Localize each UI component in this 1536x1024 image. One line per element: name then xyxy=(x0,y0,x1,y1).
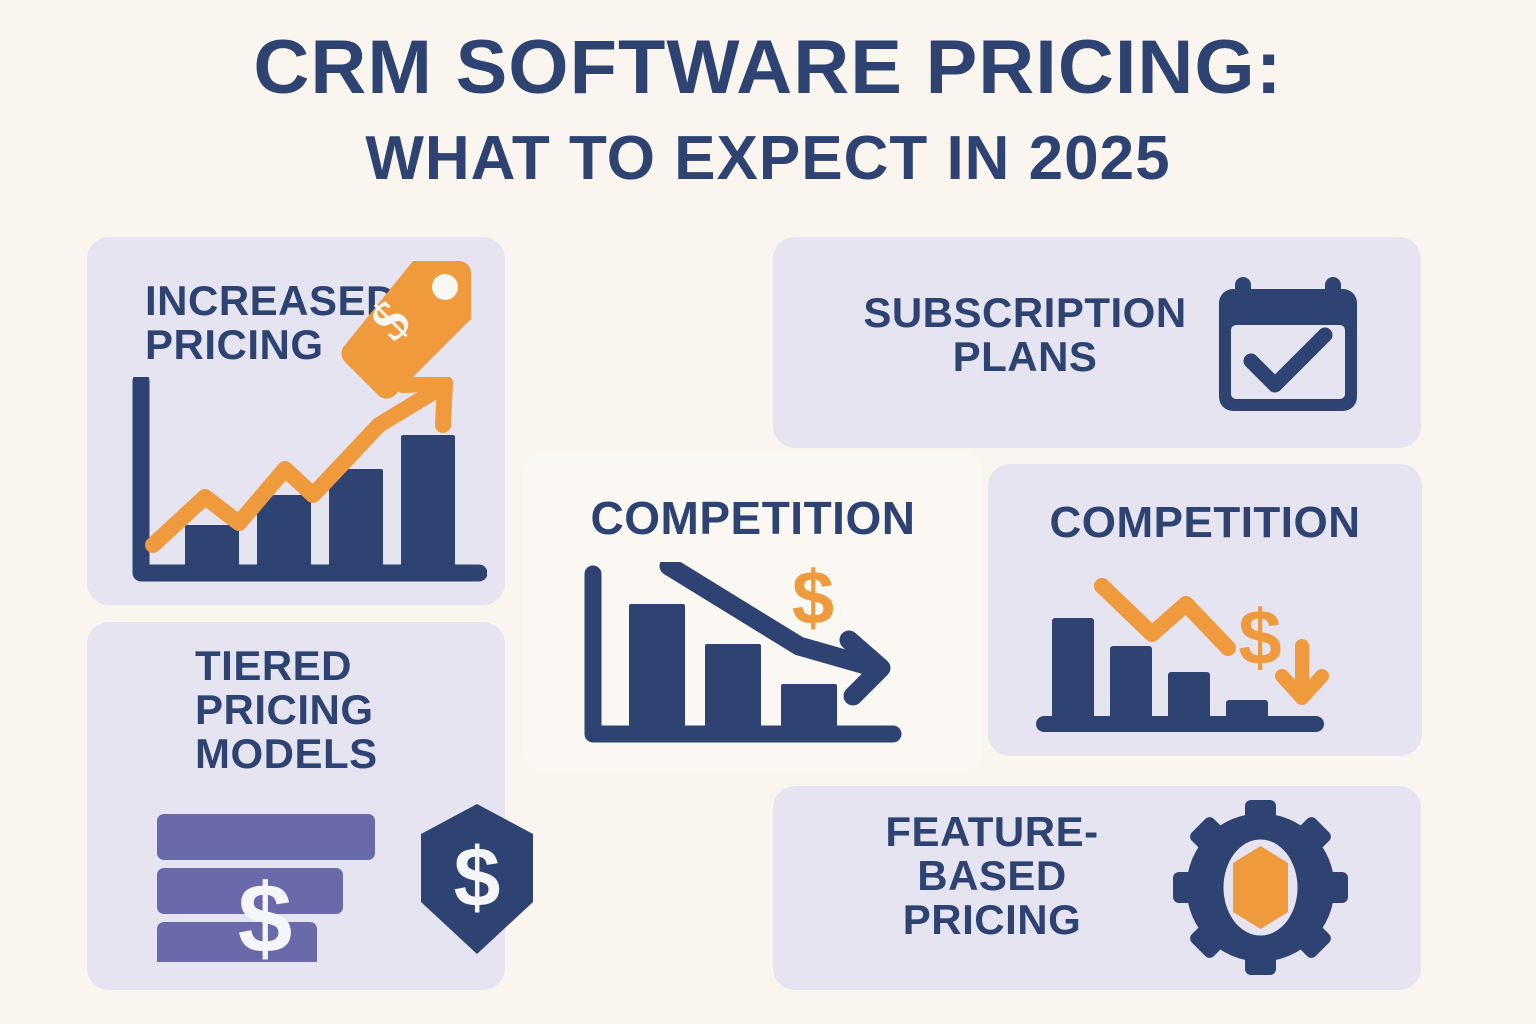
title-line-2: WHAT TO EXPECT IN 2025 xyxy=(0,120,1536,198)
svg-text:$: $ xyxy=(1238,593,1281,681)
title-line-1: CRM SOFTWARE PRICING: xyxy=(0,30,1536,106)
dollar-sign-icon: $ xyxy=(238,863,293,962)
svg-text:$: $ xyxy=(454,830,501,924)
card-feature-based-pricing[interactable]: FEATURE-BASED PRICING xyxy=(773,786,1421,990)
card-competition-right[interactable]: COMPETITION $ xyxy=(988,464,1422,756)
card-competition-center-label: COMPETITION xyxy=(523,494,983,542)
svg-text:$: $ xyxy=(792,562,834,641)
card-subscription-plans[interactable]: SUBSCRIPTION PLANS xyxy=(773,237,1421,448)
tier-bars-icon: $ xyxy=(155,812,415,962)
page-title: CRM SOFTWARE PRICING: WHAT TO EXPECT IN … xyxy=(0,30,1536,198)
card-increased-pricing[interactable]: INCREASED PRICING $ xyxy=(87,237,505,605)
hexagon-dollar-icon: $ xyxy=(417,802,537,962)
price-tag-dollar-icon: $ xyxy=(337,255,477,405)
gear-hexagon-icon xyxy=(1173,800,1348,975)
card-tiered-pricing-models-label: TIERED PRICING MODELS xyxy=(195,644,505,776)
infographic-canvas: CRM SOFTWARE PRICING: WHAT TO EXPECT IN … xyxy=(0,0,1536,1024)
card-competition-center[interactable]: COMPETITION $ xyxy=(523,452,983,772)
card-competition-right-label: COMPETITION xyxy=(988,500,1422,546)
card-subscription-plans-label: SUBSCRIPTION PLANS xyxy=(815,291,1235,379)
declining-bar-chart-icon: $ xyxy=(1034,568,1374,738)
card-tiered-pricing-models[interactable]: TIERED PRICING MODELS $ $ xyxy=(87,622,505,990)
rising-bar-chart-icon xyxy=(127,377,487,592)
card-feature-based-pricing-label: FEATURE-BASED PRICING xyxy=(827,810,1157,942)
declining-bar-chart-icon: $ xyxy=(581,562,921,752)
calendar-check-icon xyxy=(1213,273,1363,418)
